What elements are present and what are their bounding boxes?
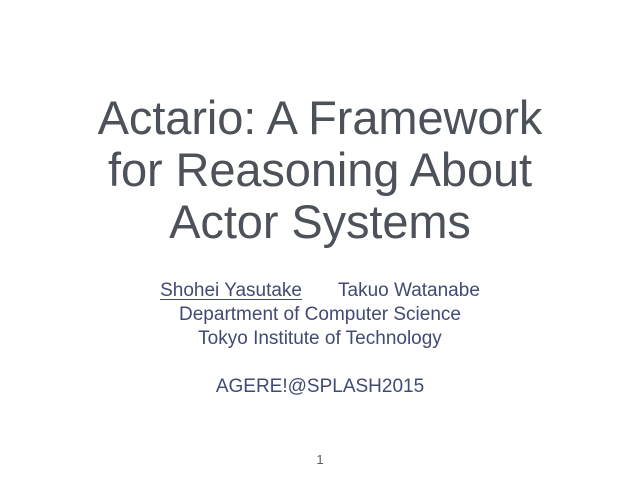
title-line-1: Actario: A Framework [0, 92, 640, 144]
affiliation-department: Department of Computer Science [0, 303, 640, 327]
author-line: Shohei YasutakeTakuo Watanabe [0, 279, 640, 303]
byline: Shohei YasutakeTakuo Watanabe Department… [0, 279, 640, 399]
author-primary: Shohei Yasutake [160, 280, 302, 301]
title-line-3: Actor Systems [0, 196, 640, 248]
byline-spacer [0, 351, 640, 375]
author-secondary: Takuo Watanabe [338, 280, 480, 301]
venue-label: AGERE!@SPLASH2015 [0, 375, 640, 399]
page-number: 1 [0, 452, 640, 468]
affiliation-institution: Tokyo Institute of Technology [0, 327, 640, 351]
title-slide: Actario: A Framework for Reasoning About… [0, 0, 640, 480]
page-title: Actario: A Framework for Reasoning About… [0, 92, 640, 248]
title-line-2: for Reasoning About [0, 144, 640, 196]
